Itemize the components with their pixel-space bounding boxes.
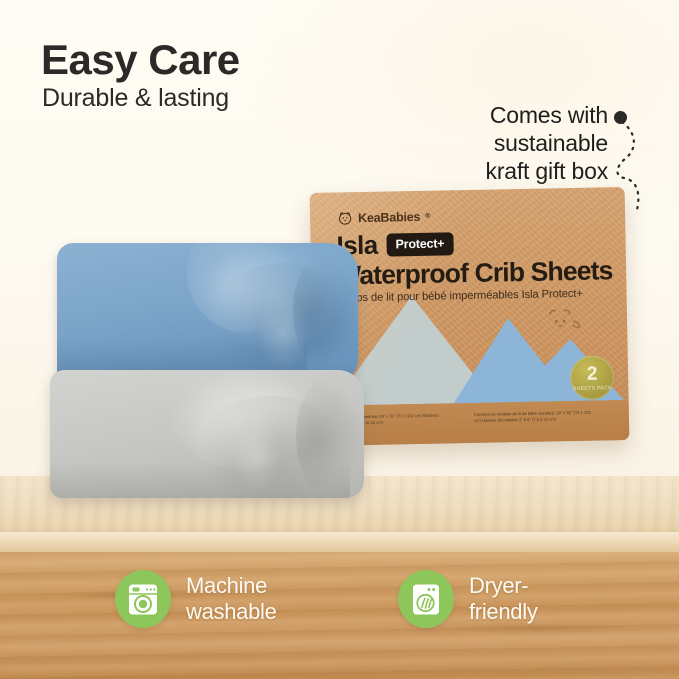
table-edge (0, 532, 679, 554)
product-title: Waterproof Crib Sheets (336, 255, 613, 291)
machine-washable-badge (115, 570, 171, 628)
dryer-friendly-badge (398, 570, 454, 628)
seal-label: SHEETS PACK (573, 385, 612, 392)
callout-line-2: sustainable (348, 129, 608, 157)
callout-text: Comes with sustainable kraft gift box (348, 101, 608, 185)
fine-print-french: Convient au matelas de lit de bébé stand… (474, 410, 594, 425)
page-subtitle: Durable & lasting (42, 84, 229, 113)
dryer-friendly-label: Dryer- friendly (469, 573, 538, 624)
registered-mark: ® (425, 213, 430, 220)
callout-line-3: kraft gift box (348, 157, 608, 185)
washing-machine-icon (127, 583, 159, 616)
keababies-mark-icon (337, 210, 353, 225)
feature-line-2: friendly (469, 599, 538, 625)
blue-folded-sheet (57, 243, 358, 380)
product-marketing-image: Easy Care Durable & lasting Comes with s… (0, 0, 679, 679)
feature-dryer-friendly: Dryer- friendly (398, 570, 538, 628)
product-line-row: Isla Protect+ (336, 228, 453, 261)
feature-line-1: Dryer- (469, 573, 538, 599)
feature-machine-washable: Machine washable (115, 570, 277, 628)
brand-logo: KeaBabies ® (337, 209, 431, 226)
feature-line-1: Machine (186, 573, 277, 599)
dryer-icon (411, 583, 441, 616)
feature-line-2: washable (186, 599, 277, 625)
page-title: Easy Care (41, 36, 240, 84)
seal-count: 2 (587, 364, 598, 383)
protect-badge: Protect+ (386, 232, 453, 256)
table-front-face (0, 552, 679, 679)
machine-washable-label: Machine washable (186, 573, 277, 624)
gray-folded-sheet (50, 370, 364, 498)
callout-line-1: Comes with (348, 101, 608, 129)
brand-name: KeaBabies (358, 209, 420, 224)
